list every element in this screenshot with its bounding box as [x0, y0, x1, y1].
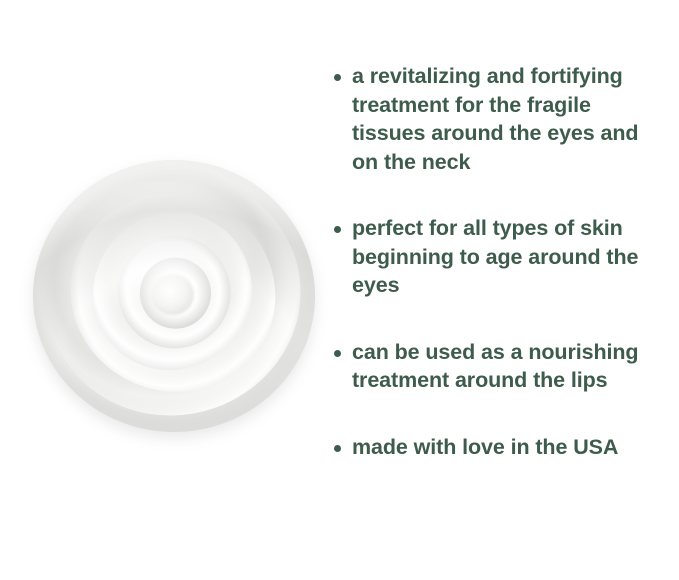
cream-ring-3	[62, 181, 284, 402]
benefit-text: a revitalizing and fortifying treatment …	[352, 62, 670, 176]
cream-swirl-sweep	[56, 182, 293, 410]
cream-rim-highlight	[33, 160, 315, 432]
cream-rim-shadow	[33, 160, 315, 432]
benefit-text: made with love in the USA	[352, 433, 618, 462]
cream-swirl-core	[151, 274, 193, 315]
list-item: a revitalizing and fortifying treatment …	[334, 62, 670, 176]
cream-ring-outer	[22, 149, 326, 443]
product-benefits-page: a revitalizing and fortifying treatment …	[0, 0, 679, 580]
cream-blob	[33, 160, 315, 432]
benefit-text: perfect for all types of skin beginning …	[352, 214, 670, 300]
cream-ring-2	[40, 164, 304, 423]
bullet-dot-icon	[334, 350, 341, 357]
bullet-dot-icon	[334, 445, 341, 452]
cream-ring-inner	[130, 248, 221, 338]
list-item: can be used as a nourishing treatment ar…	[334, 338, 670, 395]
benefits-list: a revitalizing and fortifying treatment …	[334, 62, 670, 461]
bullet-dot-icon	[334, 226, 341, 233]
cream-ring-4	[96, 214, 252, 370]
bullet-dot-icon	[334, 74, 341, 81]
list-item: made with love in the USA	[334, 433, 670, 462]
list-item: perfect for all types of skin beginning …	[334, 214, 670, 300]
cream-swirl-image	[33, 160, 315, 432]
benefit-text: can be used as a nourishing treatment ar…	[352, 338, 670, 395]
